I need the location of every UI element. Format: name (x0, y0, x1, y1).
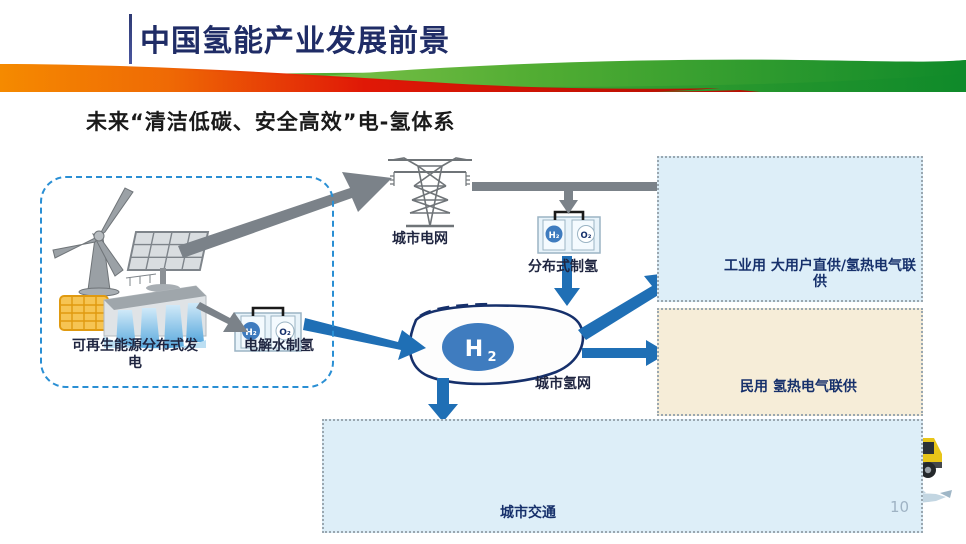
hydrogen-network-shape: H 2 (410, 304, 583, 384)
transmission-tower-icon (388, 158, 472, 226)
svg-text:H₂: H₂ (549, 231, 560, 241)
transport-use-label: 城市交通 (500, 502, 556, 522)
industrial-use-label: 工业用 大用户直供/氢热电气联供 (722, 258, 918, 290)
distributed-hydrogen-unit-icon: H₂ O₂ (538, 212, 600, 253)
svg-text:2: 2 (487, 350, 496, 365)
renewable-generation-label: 可再生能源分布式发电 (70, 338, 200, 372)
residential-use-panel (657, 308, 923, 416)
hydrogen-network-label: 城市氢网 (535, 373, 591, 393)
distributed-hydrogen-label: 分布式制氢 (528, 256, 598, 276)
electrolysis-label: 电解水制氢 (224, 338, 334, 355)
city-grid-label: 城市电网 (392, 228, 448, 248)
svg-text:O₂: O₂ (581, 231, 592, 241)
page-number: 10 (890, 498, 909, 516)
transport-use-panel (322, 419, 923, 533)
svg-text:H: H (465, 337, 483, 362)
residential-use-label: 民用 氢热电气联供 (740, 376, 857, 396)
slide-canvas: 中国氢能产业发展前景 未来“清洁低碳、安全高效”电-氢体系 (0, 0, 966, 544)
